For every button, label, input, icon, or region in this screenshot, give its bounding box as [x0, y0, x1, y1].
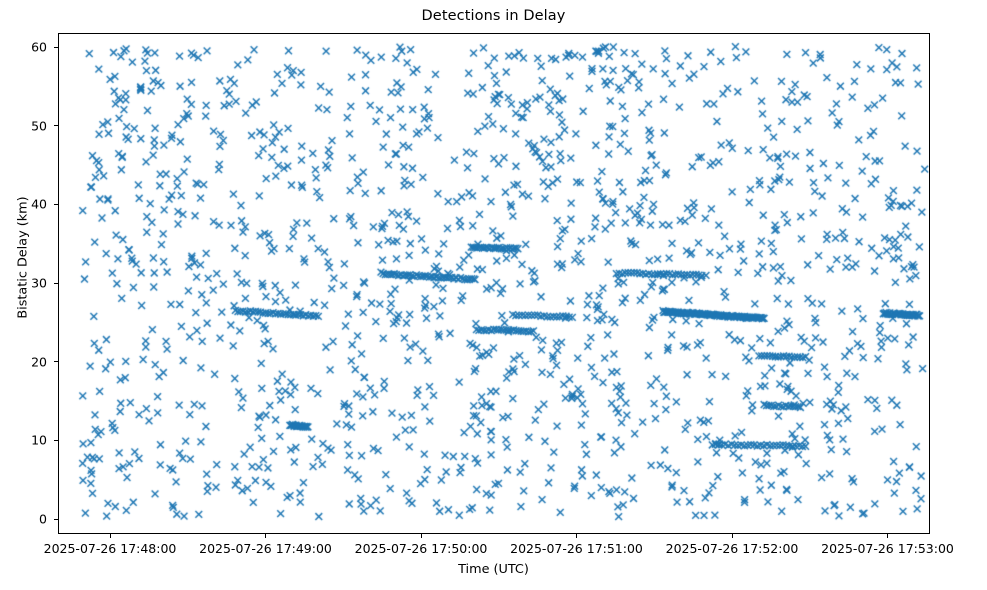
x-tick-label: 2025-07-26 17:48:00 [44, 541, 177, 556]
x-tick-label: 2025-07-26 17:49:00 [199, 541, 332, 556]
x-tick-label: 2025-07-26 17:51:00 [510, 541, 643, 556]
y-axis-label: Bistatic Delay (km) [16, 128, 31, 388]
y-tick-mark [54, 283, 58, 284]
x-axis-label: Time (UTC) [0, 562, 987, 577]
y-tick-mark [54, 519, 58, 520]
y-tick-label: 60 [7, 40, 47, 55]
x-tick-label: 2025-07-26 17:52:00 [666, 541, 799, 556]
x-tick-mark [887, 534, 888, 538]
y-tick-mark [54, 47, 58, 48]
x-tick-label: 2025-07-26 17:50:00 [355, 541, 488, 556]
plot-axes-area [58, 33, 930, 534]
x-tick-mark [576, 534, 577, 538]
y-tick-mark [54, 361, 58, 362]
x-tick-mark [110, 534, 111, 538]
y-tick-mark [54, 440, 58, 441]
x-tick-mark [265, 534, 266, 538]
y-tick-label: 0 [7, 512, 47, 527]
chart-title: Detections in Delay [0, 8, 987, 24]
figure-canvas: Detections in Delay 0102030405060 2025-0… [0, 0, 987, 590]
scatter-points-layer [59, 34, 930, 534]
y-tick-label: 10 [7, 433, 47, 448]
x-tick-mark [421, 534, 422, 538]
x-tick-label: 2025-07-26 17:53:00 [821, 541, 954, 556]
y-tick-mark [54, 125, 58, 126]
y-tick-mark [54, 204, 58, 205]
x-tick-mark [732, 534, 733, 538]
